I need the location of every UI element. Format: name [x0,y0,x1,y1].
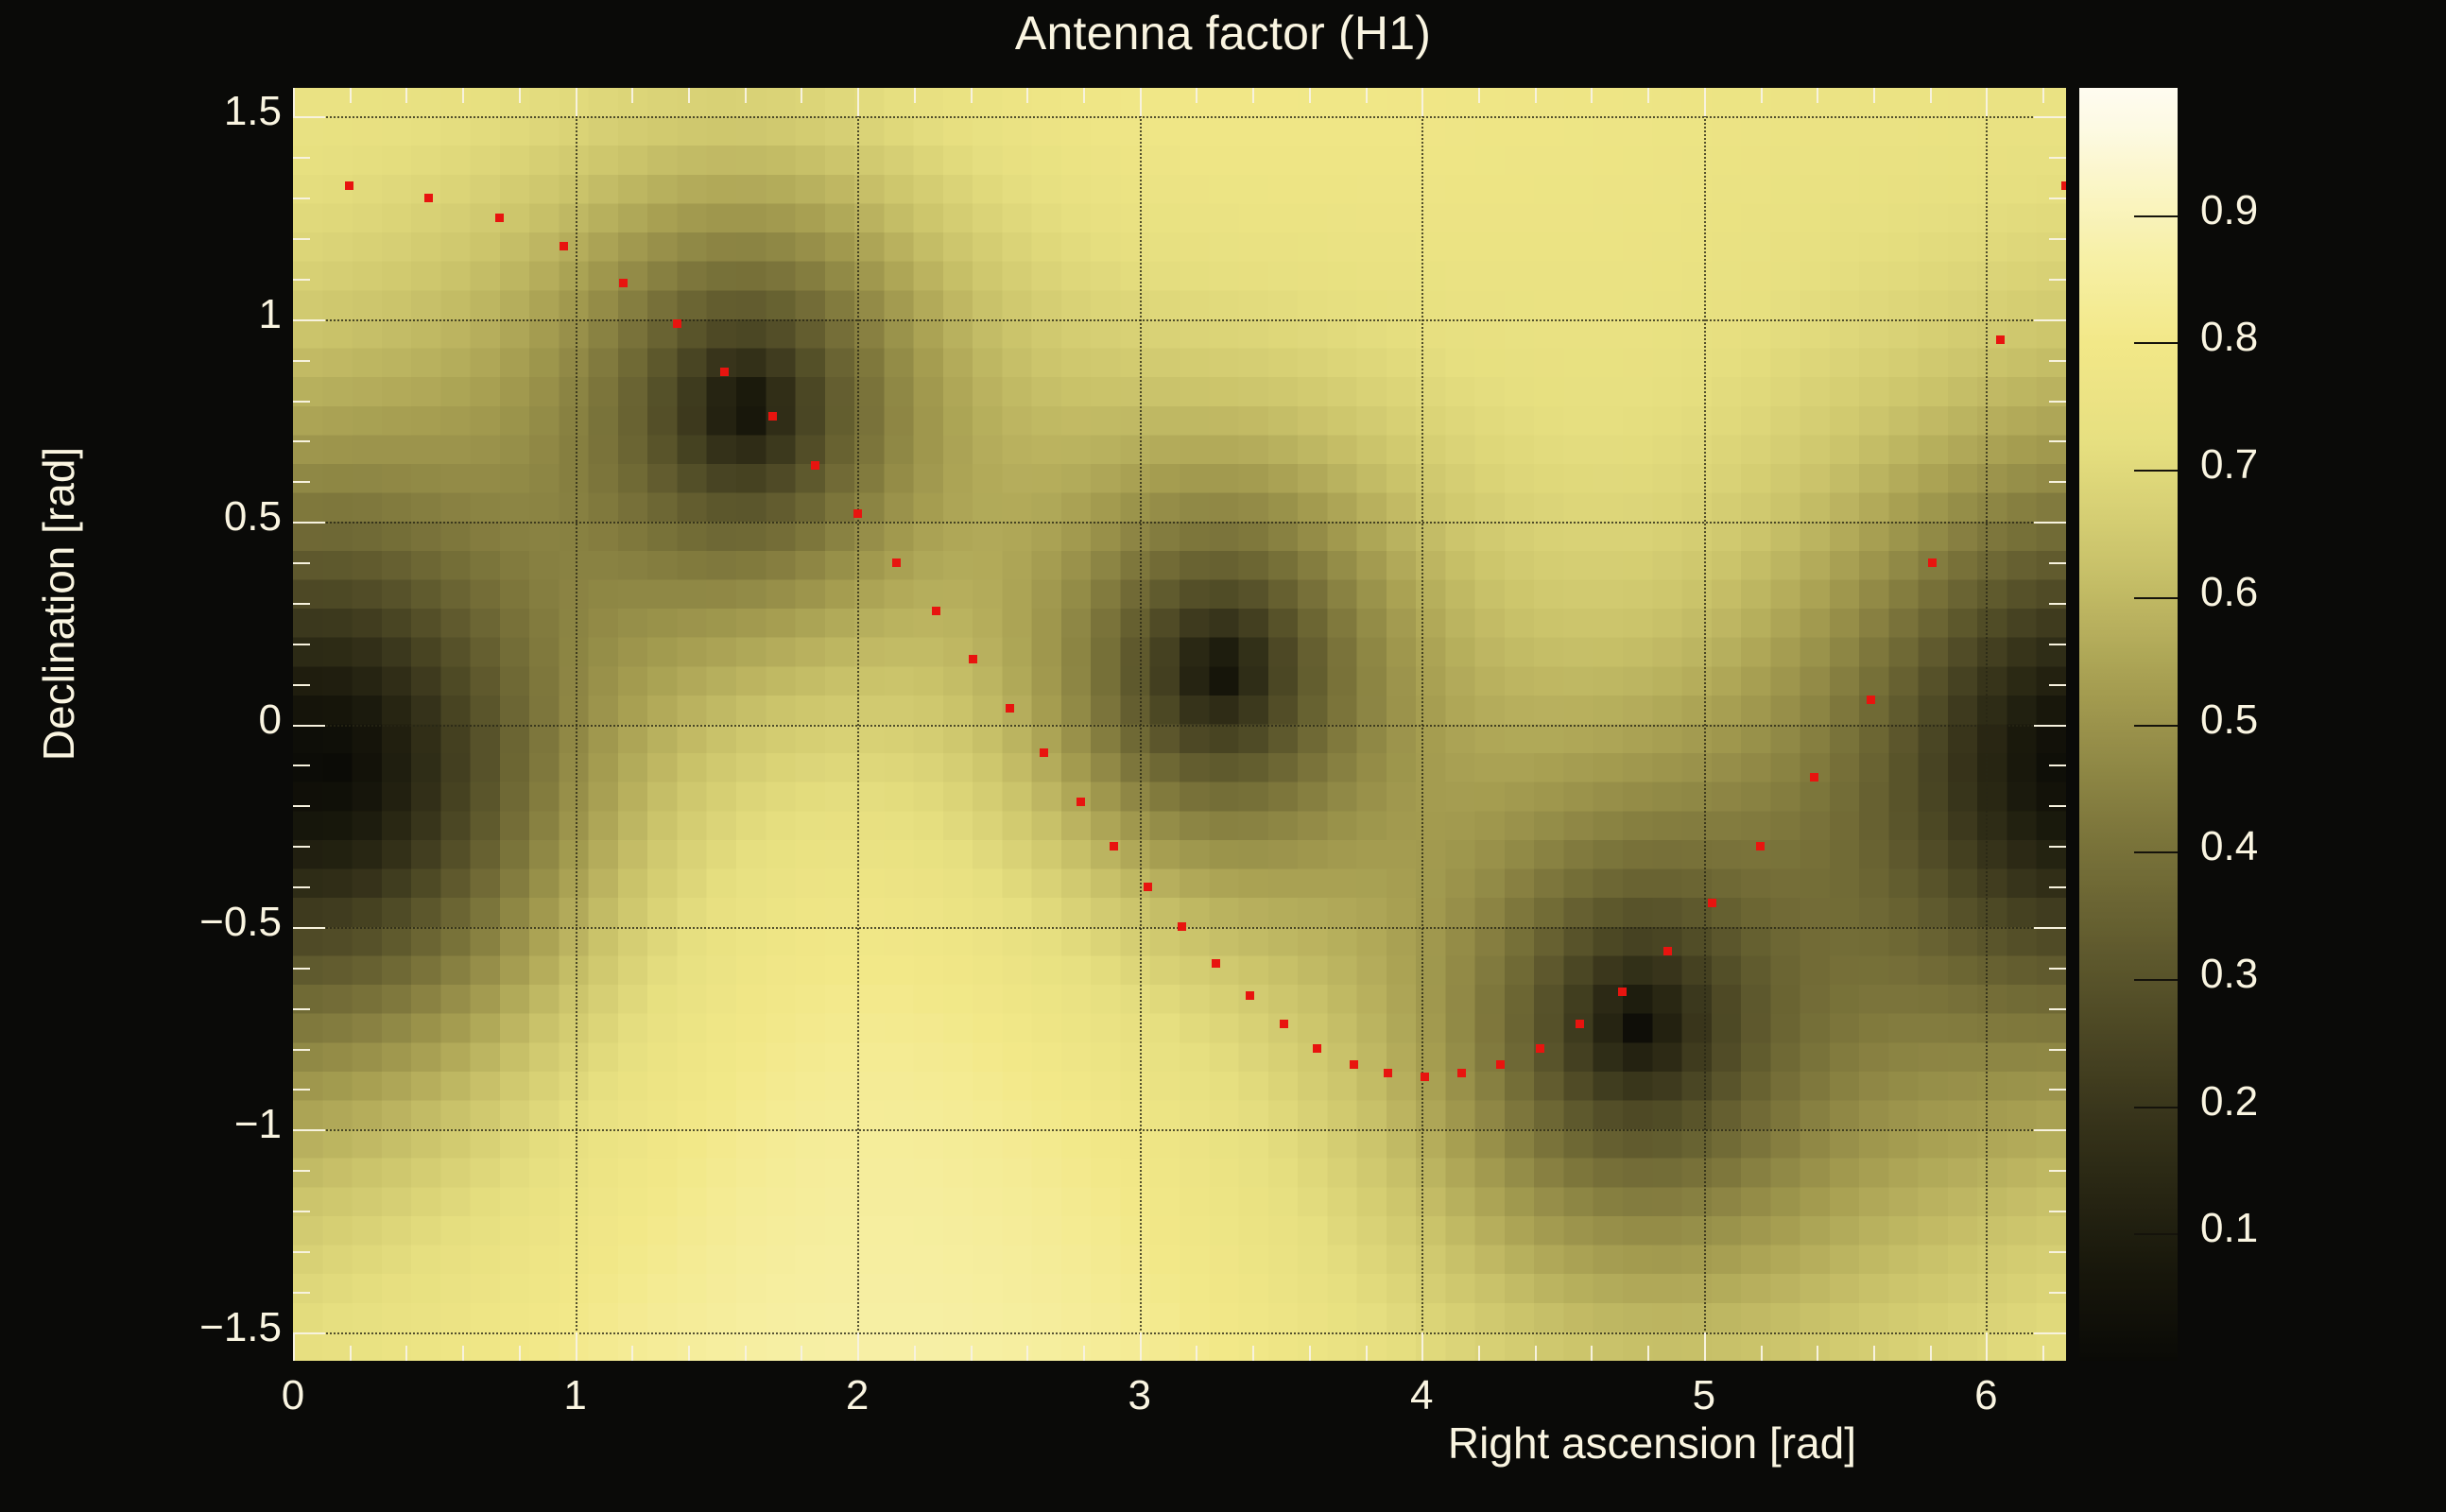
y-tick [293,440,310,442]
x-axis-tick-label: 1 [500,1372,651,1419]
y-tick-right [2049,684,2066,686]
x-tick [1704,1332,1706,1361]
colorbar-tick-label: 0.4 [2200,823,2361,870]
y-tick-right [2034,319,2066,321]
y-tick-right [2049,1049,2066,1051]
colorbar-tick [2134,725,2178,727]
x-tick-top [1873,88,1875,103]
colorbar-title: F + 2 + F × 2 [2266,113,2446,416]
y-tick-right [2049,1251,2066,1253]
y-tick-right [2049,401,2066,403]
y-tick-right [2049,644,2066,645]
x-tick [1366,1346,1368,1361]
x-tick [914,1346,916,1361]
y-tick-right [2049,360,2066,362]
x-tick-top [1478,88,1480,103]
y-tick [293,562,310,564]
colorbar-tick-label: 0.6 [2200,569,2361,616]
y-tick-right [2049,481,2066,483]
x-tick [971,1346,973,1361]
x-tick-top [405,88,407,103]
y-tick [293,1049,310,1051]
y-tick [293,968,310,970]
x-tick [1761,1346,1763,1361]
x-tick-top [801,88,802,103]
y-tick-right [2034,1129,2066,1131]
x-axis-tick-label: 4 [1346,1372,1497,1419]
colorbar-tick-label: 0.2 [2200,1078,2361,1125]
x-tick-top [2042,88,2044,103]
x-tick [1309,1346,1311,1361]
y-axis-tick-label: −0.5 [130,899,282,946]
y-tick-right [2034,1332,2066,1334]
y-axis-tick-label: −1.5 [130,1304,282,1351]
colorbar-tick [2134,470,2178,472]
y-tick [293,481,310,483]
x-tick [1535,1346,1537,1361]
x-axis-tick-label: 6 [1910,1372,2061,1419]
y-tick [293,360,310,362]
x-tick [1083,1346,1085,1361]
y-tick [293,238,310,240]
x-tick-top [519,88,521,103]
x-tick [462,1346,464,1361]
x-tick [576,1332,577,1361]
x-tick-top [350,88,352,103]
y-tick-right [2049,1008,2066,1010]
y-tick-right [2034,522,2066,524]
x-tick-top [1591,88,1593,103]
y-tick [293,1332,325,1334]
colorbar [2079,88,2178,1361]
y-tick-right [2049,1170,2066,1172]
x-tick [1478,1346,1480,1361]
y-tick [293,1251,310,1253]
y-tick [293,805,310,807]
colorbar-tick [2134,1107,2178,1108]
x-tick-top [631,88,633,103]
y-tick-right [2049,562,2066,564]
x-tick [1591,1346,1593,1361]
y-tick [293,644,310,645]
x-tick-top [1535,88,1537,103]
colorbar-tick-label: 0.1 [2200,1205,2361,1252]
colorbar-tick-label: 0.3 [2200,951,2361,998]
y-tick-right [2049,157,2066,159]
y-tick [293,886,310,888]
y-axis-title: Declination [rad] [33,301,84,906]
x-tick [1196,1346,1197,1361]
x-tick [1873,1346,1875,1361]
x-tick [519,1346,521,1361]
colorbar-tick [2134,1233,2178,1235]
x-axis-tick-label: 2 [782,1372,933,1419]
x-tick [857,1332,859,1361]
x-tick [405,1346,407,1361]
x-tick-top [1817,88,1818,103]
x-tick-top [1704,88,1706,116]
x-tick [688,1346,690,1361]
x-tick-top [1026,88,1028,103]
y-tick-right [2049,765,2066,766]
x-tick-top [1930,88,1932,103]
x-tick-top [1309,88,1311,103]
y-axis-tick-label: 1 [130,291,282,338]
x-axis-tick-label: 5 [1628,1372,1780,1419]
colorbar-tick-label: 0.5 [2200,696,2361,744]
heatmap-image [293,88,2066,1361]
y-tick-right [2049,1089,2066,1091]
x-tick-top [745,88,747,103]
x-tick-top [971,88,973,103]
y-tick [293,522,325,524]
y-tick-right [2049,279,2066,281]
y-tick [293,765,310,766]
colorbar-tick [2134,979,2178,981]
x-tick-top [688,88,690,103]
x-tick-top [462,88,464,103]
x-tick [745,1346,747,1361]
y-tick [293,684,310,686]
x-tick [631,1346,633,1361]
x-tick [1252,1346,1254,1361]
y-tick [293,116,325,118]
y-tick-right [2034,116,2066,118]
y-axis-tick-label: 0.5 [130,493,282,541]
colorbar-tick [2134,215,2178,217]
y-tick [293,1211,310,1212]
x-tick [1026,1346,1028,1361]
y-tick-right [2049,846,2066,848]
x-tick [293,1332,295,1361]
x-axis-tick-label: 0 [217,1372,369,1419]
x-tick [350,1346,352,1361]
x-tick [2042,1346,2044,1361]
colorbar-tick [2134,597,2178,599]
x-tick-top [1366,88,1368,103]
x-tick [1421,1332,1423,1361]
y-tick [293,279,310,281]
colorbar-title-formula: F + 2 + F × 2 [2266,113,2446,416]
x-tick-top [1647,88,1649,103]
x-tick-top [1083,88,1085,103]
y-tick-right [2049,886,2066,888]
x-tick-top [1252,88,1254,103]
y-tick [293,725,325,727]
x-tick [1986,1332,1988,1361]
x-tick [1647,1346,1649,1361]
y-tick [293,603,310,605]
x-tick-top [1761,88,1763,103]
x-tick-top [1421,88,1423,116]
y-tick [293,157,310,159]
x-axis-tick-label: 3 [1064,1372,1215,1419]
y-tick [293,846,310,848]
y-tick [293,1089,310,1091]
x-tick-top [576,88,577,116]
y-tick [293,1292,310,1294]
colorbar-tick [2134,851,2178,853]
chart-canvas: Antenna factor (H1) 1.510.50−0.5−1−1.5 0… [0,0,2446,1512]
y-tick [293,1008,310,1010]
y-tick [293,319,325,321]
x-tick-top [293,88,295,116]
y-tick [293,198,310,199]
y-tick-right [2049,968,2066,970]
y-tick-right [2049,440,2066,442]
x-tick-top [857,88,859,116]
y-tick [293,401,310,403]
y-tick-right [2034,927,2066,929]
x-tick-top [1196,88,1197,103]
y-tick [293,1170,310,1172]
x-tick-top [1140,88,1142,116]
x-tick-top [1986,88,1988,116]
chart-title: Antenna factor (H1) [0,6,2446,60]
y-tick-right [2034,725,2066,727]
x-tick [1930,1346,1932,1361]
y-axis-tick-label: 1.5 [130,88,282,135]
x-tick [1817,1346,1818,1361]
y-axis-tick-label: −1 [130,1101,282,1148]
x-tick [801,1346,802,1361]
colorbar-tick-label: 0.7 [2200,441,2361,489]
x-tick-top [914,88,916,103]
y-tick-right [2049,238,2066,240]
x-axis-title: Right ascension [rad] [1236,1417,2068,1469]
y-tick-right [2049,1211,2066,1212]
x-tick [1140,1332,1142,1361]
y-tick-right [2049,1292,2066,1294]
y-tick [293,927,325,929]
y-tick-right [2049,603,2066,605]
colorbar-tick [2134,342,2178,344]
y-tick-right [2049,198,2066,199]
y-tick [293,1129,325,1131]
y-tick-right [2049,805,2066,807]
plot-area [293,88,2066,1361]
y-axis-tick-label: 0 [130,696,282,744]
